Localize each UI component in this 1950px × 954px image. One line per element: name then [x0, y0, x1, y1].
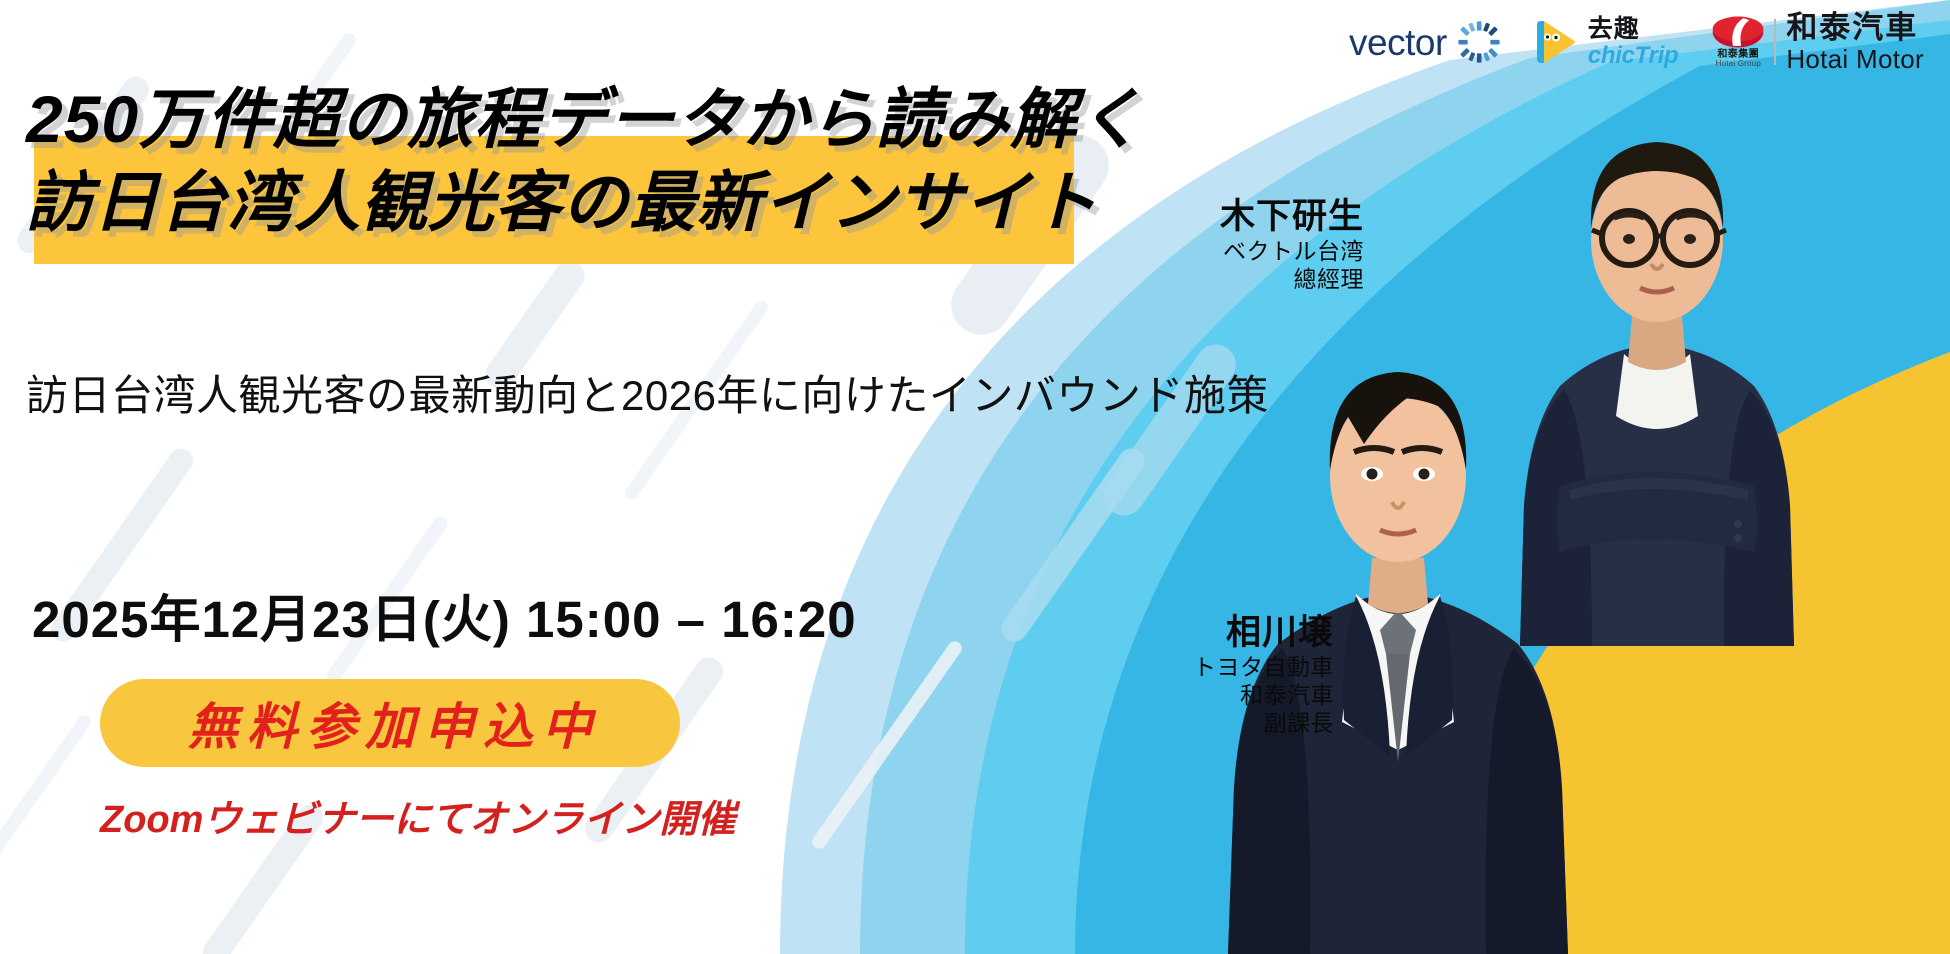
speaker-affiliation-line-2: 總經理 — [1220, 265, 1364, 293]
speaker-label-aikawa: 相川壌 トヨタ自動車 和泰汽車 副課長 — [1193, 612, 1334, 737]
logo-divider — [1774, 19, 1776, 65]
speaker-affiliation-line-2: 和泰汽車 — [1193, 681, 1334, 709]
logo-vector: vector — [1349, 21, 1500, 63]
speaker-affiliation-line-1: ベクトル台湾 — [1220, 237, 1364, 265]
subtitle: 訪日台湾人観光客の最新動向と2026年に向けたインバウンド施策 — [26, 362, 1269, 423]
speaker-name: 木下研生 — [1220, 196, 1364, 237]
logo-hotai-english: Hotai Motor — [1786, 46, 1924, 72]
headline: 250万件超の旅程データから読み解く 訪日台湾人観光客の最新インサイト — [26, 78, 1144, 244]
logo-chictrip: 去趣 chicTrip — [1534, 17, 1679, 68]
logo-hotai-chinese: 和泰汽車 — [1786, 12, 1924, 43]
webinar-banner: vector — [0, 0, 1950, 954]
chictrip-bird-icon — [1534, 17, 1579, 67]
hotai-mark-chinese: 和泰集團 — [1717, 49, 1759, 60]
speaker-label-kinoshita: 木下研生 ベクトル台湾 總經理 — [1220, 196, 1364, 293]
logo-hotai: 和泰集團 Hotai Group 和泰汽車 Hotai Motor — [1712, 12, 1924, 72]
headline-line-1: 250万件超の旅程データから読み解く — [26, 78, 1144, 161]
logo-vector-wordmark: vector — [1349, 24, 1447, 61]
headline-line-2: 訪日台湾人観光客の最新インサイト — [26, 161, 1144, 244]
hotai-mark-english: Hotai Group — [1716, 60, 1761, 69]
hotai-swoosh-icon — [1712, 16, 1764, 48]
platform-note: Zoomウェビナーにてオンライン開催 — [100, 788, 680, 843]
speaker-affiliation-line-3: 副課長 — [1193, 709, 1334, 737]
logo-chictrip-chinese: 去趣 — [1588, 17, 1679, 42]
logo-row: vector — [1349, 12, 1924, 72]
hotai-mark: 和泰集團 Hotai Group — [1712, 16, 1764, 69]
event-date-time: 2025年12月23日(火) 15:00 – 16:20 — [32, 578, 857, 652]
speaker-name: 相川壌 — [1193, 612, 1334, 653]
logo-chictrip-english: chicTrip — [1588, 44, 1679, 68]
speaker-affiliation-line-1: トヨタ自動車 — [1193, 653, 1334, 681]
gear-burst-icon — [1458, 21, 1500, 63]
register-cta-button[interactable]: 無料参加申込中 — [100, 679, 680, 767]
register-cta-label: 無料参加申込中 — [179, 687, 601, 759]
